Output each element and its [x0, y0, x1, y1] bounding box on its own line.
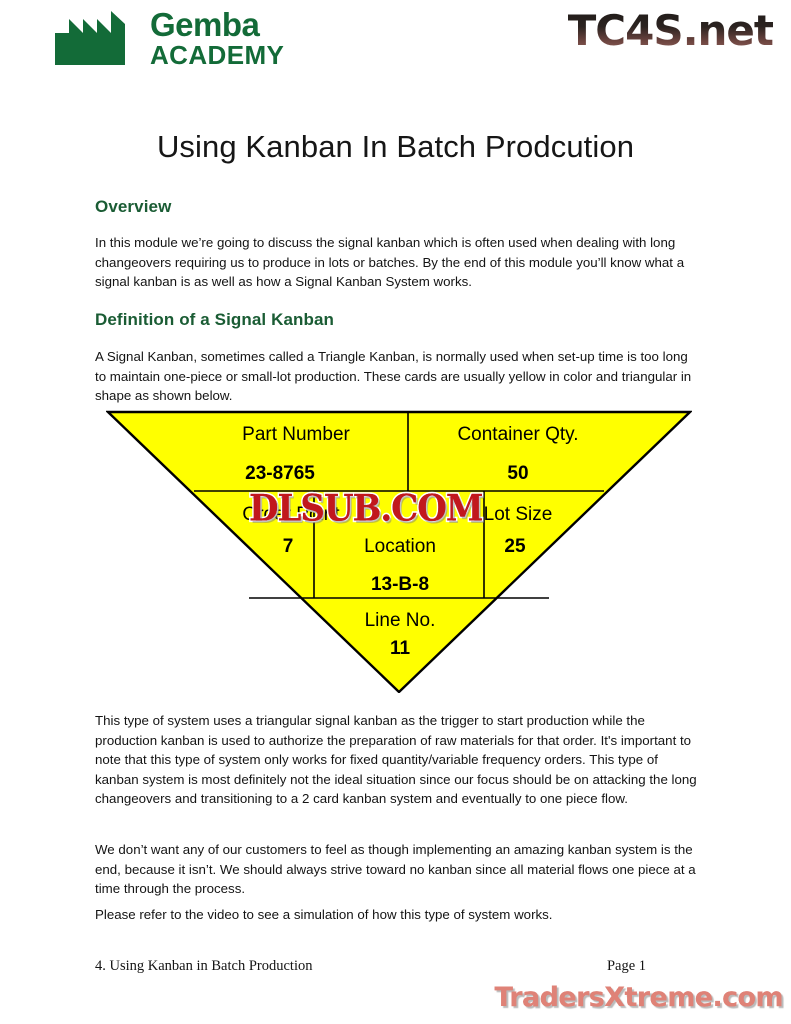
logo-wordmark: Gemba ACADEMY: [150, 8, 284, 68]
body-paragraph-5: Please refer to the video to see a simul…: [95, 905, 699, 925]
logo-line-gemba: Gemba: [150, 8, 284, 41]
section-paragraph-overview: In this module we’re going to discuss th…: [95, 233, 699, 292]
page-header: Gemba ACADEMY TC4S.net: [0, 0, 791, 95]
kanban-value-location: 13-B-8: [371, 574, 429, 595]
kanban-value-part-number: 23-8765: [245, 463, 315, 484]
kanban-value-order-point: 7: [283, 536, 294, 557]
kanban-label-container-qty: Container Qty.: [457, 424, 578, 445]
document-page: Gemba ACADEMY TC4S.net Using Kanban In B…: [0, 0, 791, 1024]
section-heading-overview: Overview: [95, 197, 699, 217]
kanban-label-lot-size: Lot Size: [484, 504, 553, 525]
kanban-label-part-number: Part Number: [242, 424, 350, 445]
tc4s-watermark: TC4S.net: [568, 6, 773, 55]
kanban-value-line-no: 11: [390, 638, 411, 659]
logo-line-academy: ACADEMY: [150, 42, 284, 68]
gemba-academy-logo: Gemba ACADEMY: [55, 8, 284, 68]
section-heading-definition: Definition of a Signal Kanban: [95, 310, 699, 330]
tradersxtreme-watermark-outline: TradersXtreme.com: [494, 982, 783, 1013]
factory-icon: [55, 11, 141, 65]
signal-kanban-card-diagram: Part Number 23-8765 Container Qty. 50 Or…: [106, 408, 692, 693]
body-paragraph-4: We don’t want any of our customers to fe…: [95, 840, 699, 899]
kanban-value-lot-size: 25: [504, 536, 526, 557]
body-paragraph-3: This type of system uses a triangular si…: [95, 711, 699, 809]
section-paragraph-definition: A Signal Kanban, sometimes called a Tria…: [95, 347, 699, 406]
kanban-label-line-no: Line No.: [365, 610, 436, 631]
kanban-value-container-qty: 50: [507, 463, 528, 484]
footer-page-number: Page 1: [607, 958, 646, 975]
footer-left-text: 4. Using Kanban in Batch Production: [95, 958, 312, 975]
dlsub-watermark-outline: DLSUB.COM: [249, 488, 482, 530]
kanban-label-location: Location: [364, 536, 436, 557]
page-title: Using Kanban In Batch Prodcution: [0, 129, 791, 165]
